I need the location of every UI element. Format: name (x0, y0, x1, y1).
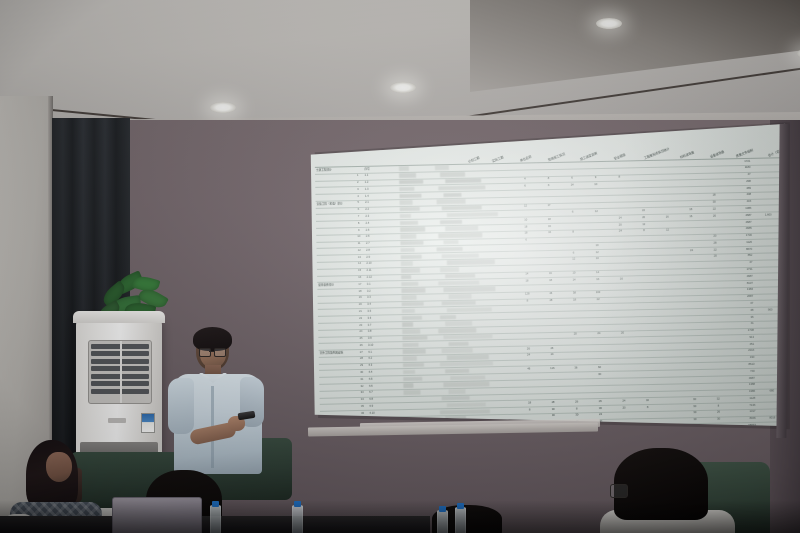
slide-content: 某某项目进度汇总统计表 计划工期 实际工期 单位名称 现场施工情况 施工进度说明… (308, 122, 790, 437)
column-header: 材料进场量 (679, 150, 694, 159)
projected-slide-surface: 某某项目进度汇总统计表 计划工期 实际工期 单位名称 现场施工情况 施工进度说明… (300, 122, 790, 442)
downlight-icon (390, 82, 416, 93)
attendee-head (614, 448, 708, 520)
table-body: 土建工程部分序号172111.1118021.2486984731.366141… (315, 158, 788, 437)
ac-brand-logo (108, 418, 126, 423)
water-bottle (455, 507, 466, 533)
attendee-right (600, 448, 735, 533)
water-bottle (292, 505, 303, 533)
progress-summary-table: 土建工程部分序号172111.1118021.2486984731.366141… (315, 157, 789, 437)
column-header: 安全措施 (613, 153, 626, 161)
presenter-left-sleeve (168, 378, 194, 434)
column-header: 质量文件编制 (735, 148, 753, 158)
water-bottle (437, 510, 448, 533)
ac-top-cap (73, 311, 165, 323)
energy-label-sticker (141, 413, 155, 433)
column-header: 设备进场量 (709, 150, 724, 159)
attendee-face (46, 452, 72, 482)
column-header: 单位名称 (519, 155, 532, 163)
water-bottle (210, 505, 221, 533)
meeting-room-photo: 某某项目进度汇总统计表 计划工期 实际工期 单位名称 现场施工情况 施工进度说明… (0, 0, 800, 533)
ac-vent-grille (88, 340, 152, 404)
column-header: 工程量完成情况统计 (643, 147, 670, 160)
laptop[interactable] (112, 497, 202, 533)
column-header: 现场施工情况 (547, 152, 565, 162)
downlight-icon (210, 102, 236, 113)
downlight-icon (596, 18, 622, 29)
glasses-icon (199, 348, 226, 355)
column-header: 施工进度说明 (579, 151, 597, 161)
projection-screen: 某某项目进度汇总统计表 计划工期 实际工期 单位名称 现场施工情况 施工进度说明… (300, 122, 790, 442)
data-cell: 140 (613, 425, 637, 432)
glasses-icon (610, 484, 628, 498)
column-header: 实际工期 (491, 155, 504, 163)
